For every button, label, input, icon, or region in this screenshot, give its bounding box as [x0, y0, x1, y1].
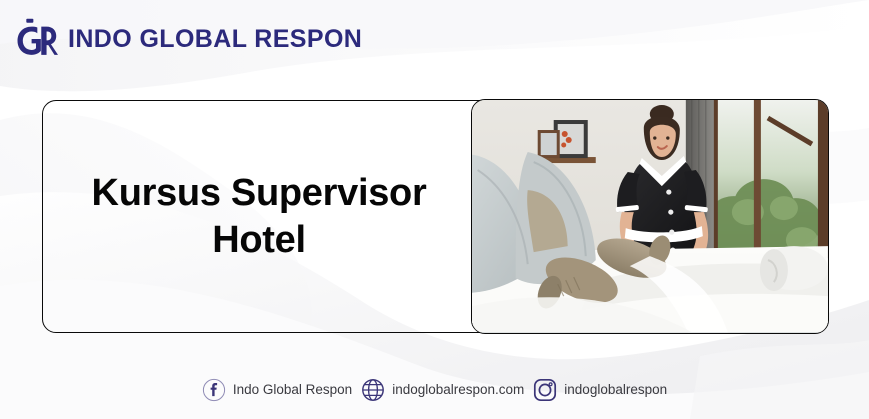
- footer-item-instagram[interactable]: indoglobalrespon: [533, 378, 667, 402]
- instagram-icon[interactable]: [533, 378, 557, 402]
- page-header: INDO GLOBAL RESPON: [0, 0, 869, 78]
- footer-contact-bar: Indo Global Respon indoglobalrespon.com …: [0, 375, 869, 405]
- facebook-icon[interactable]: [202, 378, 226, 402]
- footer-label-instagram: indoglobalrespon: [564, 383, 667, 397]
- content-card: Kursus Supervisor Hotel: [42, 100, 828, 333]
- globe-website-icon[interactable]: [361, 378, 385, 402]
- footer-label-website: indoglobalrespon.com: [392, 383, 524, 397]
- page-title-line-1: Kursus Supervisor: [92, 172, 427, 214]
- page-title: Kursus Supervisor Hotel: [92, 170, 427, 263]
- footer-item-facebook[interactable]: Indo Global Respon: [202, 378, 361, 402]
- brand-name: INDO GLOBAL RESPON: [68, 27, 362, 52]
- page-title-line-2: Hotel: [212, 219, 306, 261]
- poster-page: INDO GLOBAL RESPON Kursus Supervisor Hot…: [0, 0, 869, 419]
- card-title-area: Kursus Supervisor Hotel: [43, 101, 471, 332]
- card-photo-panel: [471, 99, 829, 333]
- hotel-housekeeping-photo: [472, 100, 828, 332]
- igr-monogram-logo-icon: [14, 17, 58, 61]
- footer-label-facebook: Indo Global Respon: [233, 383, 352, 397]
- footer-item-website[interactable]: indoglobalrespon.com: [361, 378, 533, 402]
